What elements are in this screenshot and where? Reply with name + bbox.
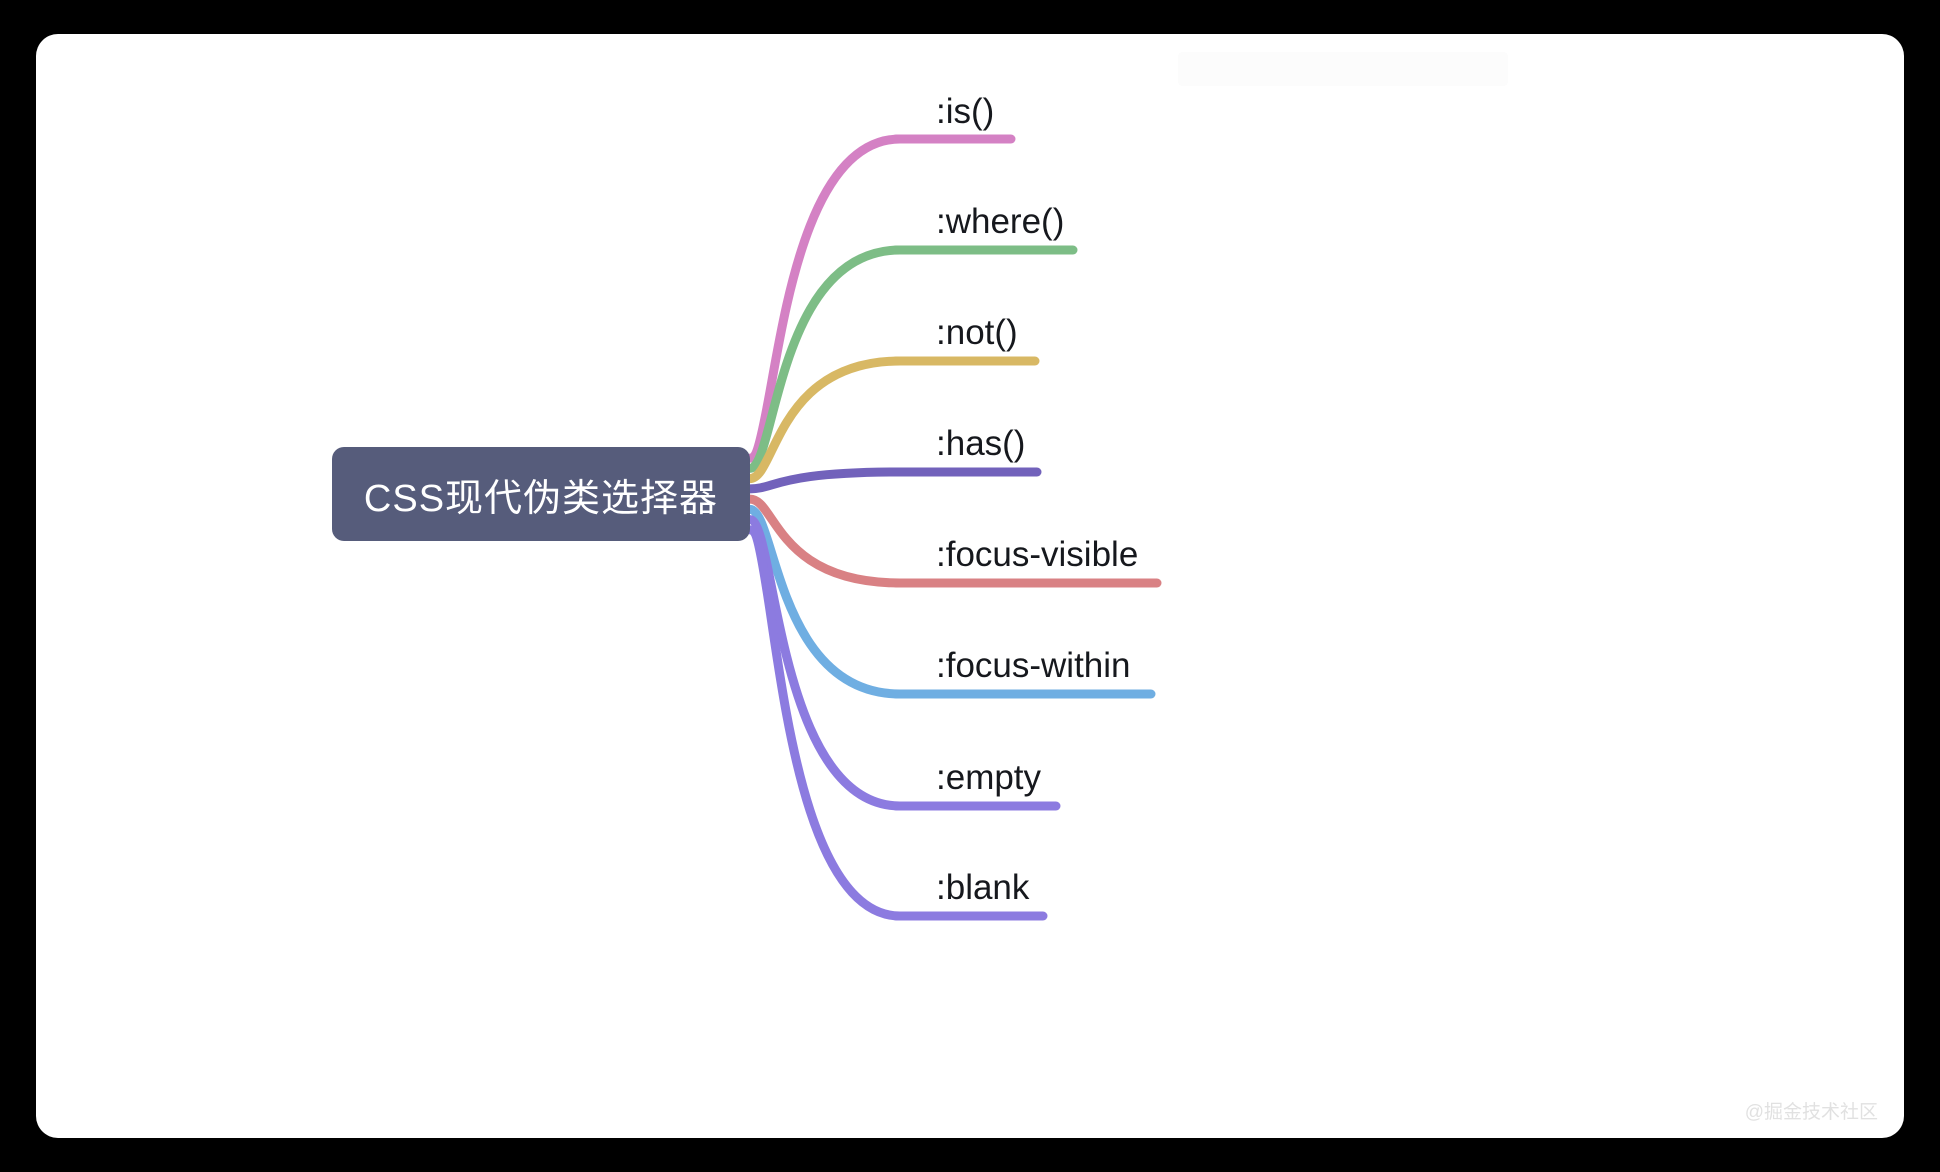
branch-label-focus-within[interactable]: :focus-within: [936, 648, 1131, 683]
mindmap-canvas: CSS现代伪类选择器 :is():where():not():has():foc…: [36, 34, 1904, 1138]
branch-label-where[interactable]: :where(): [936, 204, 1064, 239]
branch-underline-group: [896, 139, 1157, 916]
faint-top-watermark: [1178, 52, 1508, 86]
screenshot-frame: CSS现代伪类选择器 :is():where():not():has():foc…: [0, 0, 1940, 1172]
watermark-text: @掘金技术社区: [1745, 1097, 1878, 1124]
branch-label-blank[interactable]: :blank: [936, 870, 1029, 905]
branch-label-not[interactable]: :not(): [936, 315, 1018, 350]
branch-label-has[interactable]: :has(): [936, 426, 1025, 461]
branch-label-empty[interactable]: :empty: [936, 760, 1041, 795]
mindmap-connector-layer: [36, 34, 1904, 1138]
branch-curve: [750, 472, 900, 489]
root-node-label: CSS现代伪类选择器: [364, 467, 718, 522]
branch-path-group: [750, 139, 900, 916]
branch-label-is[interactable]: :is(): [936, 94, 994, 129]
branch-label-focus-visible[interactable]: :focus-visible: [936, 537, 1138, 572]
root-node[interactable]: CSS现代伪类选择器: [332, 447, 750, 541]
